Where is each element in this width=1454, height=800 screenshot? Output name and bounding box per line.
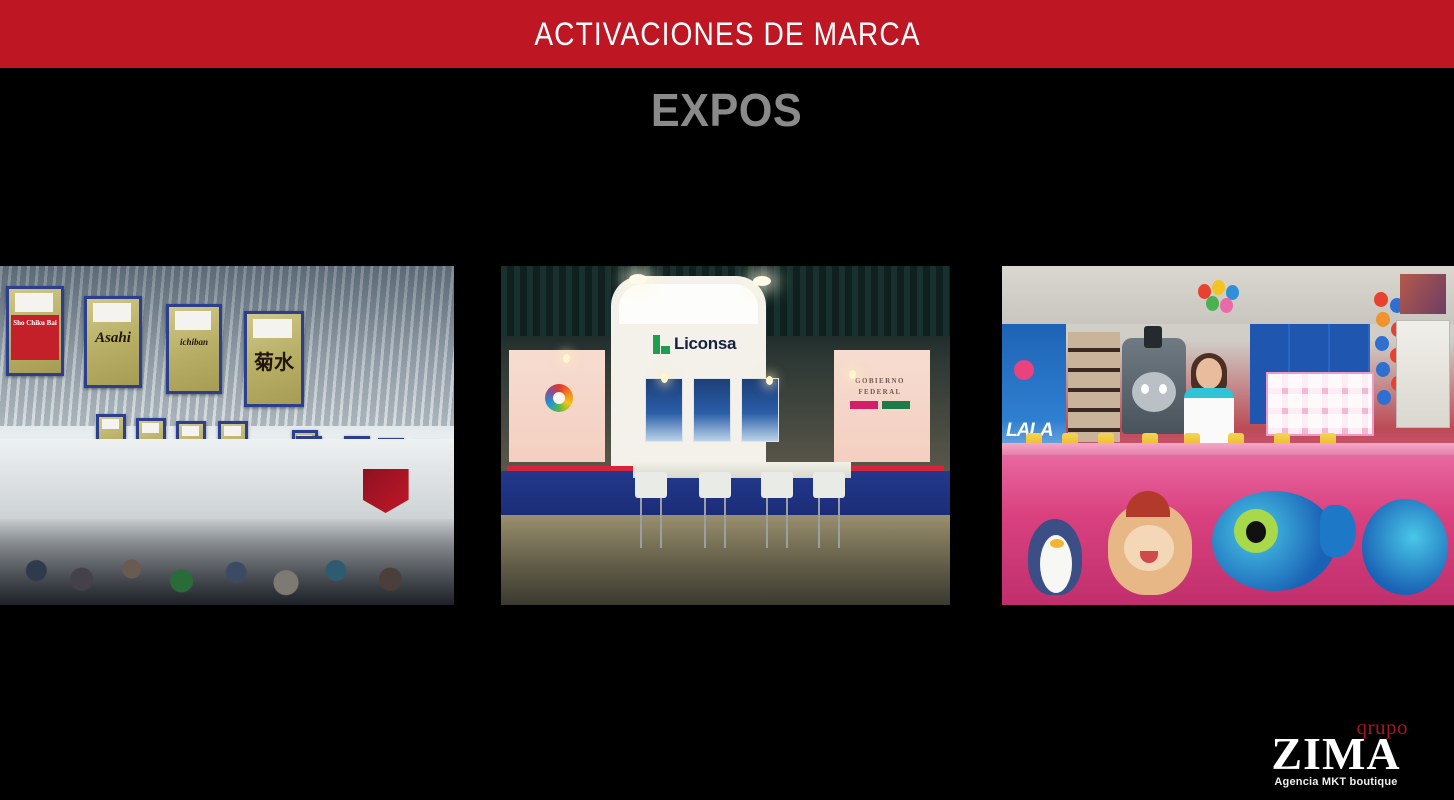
slide-root: ACTIVACIONES DE MARCA EXPOS Sho Chiku Ba… (0, 0, 1454, 800)
hanging-banner: Asahi (84, 296, 142, 388)
liconsa-mark-icon (653, 335, 670, 354)
photo-2-content: Liconsa GOBIERNO FEDERAL (501, 266, 950, 605)
pendant-lamp (766, 376, 773, 385)
thomas-train-inflatable (1122, 338, 1186, 434)
booth-poster (693, 378, 731, 442)
bar-stool (699, 472, 731, 548)
pendant-lamp (849, 370, 856, 379)
photo-expo-hall-sake-banners[interactable]: Sho Chiku Bai Asahi ichiban 菊水 (0, 266, 454, 605)
photo-3-content: LALA (1002, 266, 1454, 605)
logo-main-word: ZIMA (1256, 733, 1416, 775)
gobierno-line-2: FEDERAL (842, 387, 918, 398)
banner-label: ichiban (169, 337, 219, 347)
photo-gallery: Sho Chiku Bai Asahi ichiban 菊水 (0, 266, 1454, 606)
hanging-banner: 菊水 (244, 311, 304, 407)
logo-tagline: Agencia MKT boutique (1256, 776, 1416, 788)
vivir-mejor-flower-icon (545, 384, 573, 412)
booth-poster (741, 378, 779, 442)
liconsa-small-logo (882, 401, 910, 409)
liconsa-booth-scene: Liconsa GOBIERNO FEDERAL (501, 266, 950, 605)
photo-liconsa-booth[interactable]: Liconsa GOBIERNO FEDERAL (501, 266, 950, 605)
banner-ticket (142, 423, 159, 433)
pendant-lamp (563, 354, 570, 363)
photo-panel (1400, 274, 1446, 314)
hanging-banner: ichiban (166, 304, 222, 394)
bar-stool (635, 472, 667, 548)
banner-label: Asahi (87, 330, 139, 347)
balloon-bunch (1198, 280, 1248, 322)
product-shelf (1068, 332, 1120, 442)
sedesol-logo (850, 401, 878, 409)
info-poster (1396, 320, 1450, 428)
penguin-character-art (1020, 509, 1090, 599)
expo-hall-scene: Sho Chiku Bai Asahi ichiban 菊水 (0, 266, 454, 605)
liconsa-logo: Liconsa (653, 334, 736, 354)
liconsa-wordmark: Liconsa (674, 334, 736, 354)
agency-logos (842, 401, 918, 409)
spotlight (629, 274, 647, 284)
photo-lala-kids-booth[interactable]: LALA (1002, 266, 1454, 605)
bar-stool (813, 472, 845, 548)
bar-stool (761, 472, 793, 548)
product-display-case (1266, 372, 1374, 436)
brand-logo: qrupo ZIMA Agencia MKT boutique (1256, 717, 1416, 788)
banner-ticket (15, 293, 52, 311)
banner-ticket (253, 319, 292, 339)
banner-ticket (102, 419, 119, 429)
section-title: EXPOS (651, 83, 802, 137)
header-band: ACTIVACIONES DE MARCA (0, 0, 1454, 68)
gobierno-federal-sign: GOBIERNO FEDERAL (842, 376, 918, 409)
banner-ticket (175, 311, 211, 329)
banner-label: Sho Chiku Bai (9, 319, 61, 327)
banner-label: 菊水 (247, 346, 301, 375)
lala-booth-scene: LALA (1002, 266, 1454, 605)
banner-ticket (182, 426, 199, 436)
ceiling-structure (0, 266, 454, 426)
photo-1-content: Sho Chiku Bai Asahi ichiban 菊水 (0, 266, 454, 605)
page-title: ACTIVACIONES DE MARCA (534, 16, 920, 53)
pink-counter-graphics (1002, 455, 1454, 605)
fish-character-art-secondary (1358, 489, 1448, 599)
monkey-character-art (1102, 489, 1198, 599)
lala-flower-icon (1014, 360, 1034, 380)
spotlight (753, 276, 771, 286)
banner-ticket (93, 303, 130, 322)
section-title-wrap: EXPOS (0, 78, 1454, 142)
pendant-lamp (661, 374, 668, 383)
hanging-banner: Sho Chiku Bai (6, 286, 64, 376)
fish-character-art (1212, 479, 1352, 599)
visitor-crowd (0, 519, 454, 605)
booth-poster (645, 378, 683, 442)
banner-ticket (224, 426, 241, 436)
